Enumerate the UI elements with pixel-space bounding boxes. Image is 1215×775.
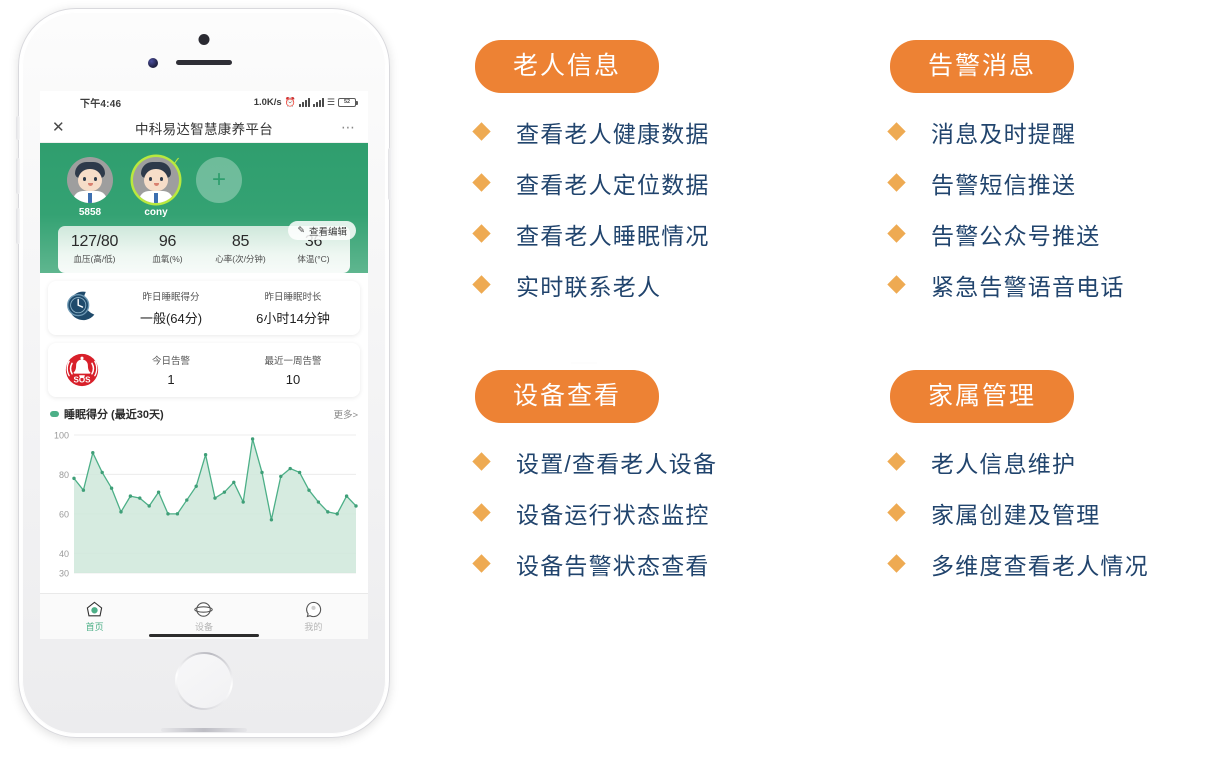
status-time: 下午4:46 <box>80 95 121 110</box>
list-item: 紧急告警语音电话 <box>890 268 1125 302</box>
section-title-pill: 家属管理 <box>890 370 1074 423</box>
svg-text:40: 40 <box>59 549 69 559</box>
signal-bars-icon <box>299 98 310 107</box>
diamond-bullet-icon <box>887 276 905 294</box>
sleep-score-col: 昨日睡眠得分 一般(64分) <box>110 289 232 327</box>
sos-bell-icon: SOS <box>54 351 110 389</box>
vital-value: 127/80 <box>58 233 131 251</box>
avatar-list: 5858 ✓ cony + <box>50 153 358 218</box>
list-item: 老人信息维护 <box>890 445 1149 479</box>
vital-blood-pressure: 127/80 血压(高/低) <box>58 233 131 265</box>
add-elder-button[interactable]: + <box>196 157 248 203</box>
tab-device-label: 设备 <box>195 620 213 633</box>
home-icon <box>85 600 104 619</box>
diamond-bullet-icon <box>887 555 905 573</box>
list-item-label: 老人信息维护 <box>931 445 1076 479</box>
avatar-item-cony[interactable]: ✓ cony <box>130 157 182 218</box>
list-item: 设置/查看老人设备 <box>475 445 717 479</box>
list-item: 设备告警状态查看 <box>475 547 717 581</box>
diamond-bullet-icon <box>887 174 905 192</box>
sleep-score-value: 一般(64分) <box>110 308 232 327</box>
volume-down-button[interactable] <box>16 208 20 244</box>
diamond-bullet-icon <box>472 453 490 471</box>
chart-header: 睡眠得分 (最近30天) 更多> <box>48 406 360 427</box>
chart-plot-area: 10080604030 <box>48 427 360 577</box>
network-speed: 1.0K/s <box>254 97 282 108</box>
avatar <box>67 157 113 203</box>
bottom-tab-bar: 首页 设备 我的 <box>40 593 368 639</box>
svg-text:SOS: SOS <box>73 375 91 384</box>
vital-heart-rate: 85 心率(次/分钟) <box>204 233 277 265</box>
mute-switch[interactable] <box>16 116 20 140</box>
proximity-sensor-icon <box>199 34 210 45</box>
sleep-chart-svg: 10080604030 <box>48 427 360 577</box>
list-item-label: 多维度查看老人情况 <box>931 547 1149 581</box>
list-item-label: 设备告警状态查看 <box>516 547 710 581</box>
list-item: 设备运行状态监控 <box>475 496 717 530</box>
svg-text:100: 100 <box>54 431 69 441</box>
hero-section: 5858 ✓ cony + ✎ 查看编辑 <box>40 143 368 273</box>
sleep-duration-value: 6小时14分钟 <box>232 308 354 327</box>
alarm-columns: 今日告警 1 最近一周告警 10 <box>110 353 354 387</box>
list-item: 告警公众号推送 <box>890 217 1125 251</box>
sleep-score-chart-card: 睡眠得分 (最近30天) 更多> 10080604030 <box>48 406 360 577</box>
alarm-clock-icon: ⏰ <box>285 97 296 108</box>
app-title: 中科易达智慧康养平台 <box>74 118 334 138</box>
device-icon <box>194 600 213 619</box>
sleep-duration-col: 昨日睡眠时长 6小时14分钟 <box>232 289 354 327</box>
chart-more-link[interactable]: 更多> <box>333 407 358 421</box>
list-item-label: 查看老人健康数据 <box>516 115 710 149</box>
list-item: 家属创建及管理 <box>890 496 1149 530</box>
section-bullet-list: 消息及时提醒 告警短信推送 告警公众号推送 紧急告警语音电话 <box>890 115 1125 302</box>
section-alarm-message: 告警消息 消息及时提醒 告警短信推送 告警公众号推送 紧急告警语音电话 <box>890 40 1125 319</box>
decorative-line <box>571 362 597 364</box>
plus-icon: + <box>196 157 242 203</box>
list-item-label: 查看老人睡眠情况 <box>516 217 710 251</box>
alarm-summary-card[interactable]: SOS 今日告警 1 最近一周告警 10 <box>48 343 360 397</box>
front-camera-icon <box>148 58 158 68</box>
sleep-summary-card[interactable]: 昨日睡眠得分 一般(64分) 昨日睡眠时长 6小时14分钟 <box>48 281 360 335</box>
list-item-label: 紧急告警语音电话 <box>931 268 1125 302</box>
diamond-bullet-icon <box>472 555 490 573</box>
moon-clock-icon <box>54 289 110 327</box>
vital-label: 血压(高/低) <box>58 253 131 265</box>
moon-clock-svg <box>63 289 101 327</box>
diamond-bullet-icon <box>887 225 905 243</box>
phone-screen: 下午4:46 1.0K/s ⏰ ☰ 52 ✕ 中科易达智慧康养平台 ⋯ <box>40 91 368 639</box>
feature-sections: 老人信息 查看老人健康数据 查看老人定位数据 查看老人睡眠情况 实时联系老人 告… <box>440 0 1215 775</box>
volume-up-button[interactable] <box>16 158 20 194</box>
section-title-pill: 设备查看 <box>475 370 659 423</box>
section-title-pill: 老人信息 <box>475 40 659 93</box>
diamond-bullet-icon <box>472 174 490 192</box>
pencil-icon: ✎ <box>297 225 305 236</box>
avatar-name: cony <box>130 207 182 218</box>
week-alarm-label: 最近一周告警 <box>232 353 354 367</box>
status-right-group: 1.0K/s ⏰ ☰ 52 <box>254 97 356 108</box>
more-dots-icon[interactable]: ⋯ <box>334 119 356 136</box>
sleep-score-label: 昨日睡眠得分 <box>110 289 232 303</box>
avatar-item-5858[interactable]: 5858 <box>64 157 116 218</box>
section-bullet-list: 老人信息维护 家属创建及管理 多维度查看老人情况 <box>890 445 1149 581</box>
diamond-bullet-icon <box>472 123 490 141</box>
section-device-view: 设备查看 设置/查看老人设备 设备运行状态监控 设备告警状态查看 <box>475 370 717 598</box>
power-button[interactable] <box>388 148 392 200</box>
home-button[interactable] <box>175 652 233 710</box>
avatar-name: 5858 <box>64 207 116 218</box>
home-indicator <box>149 634 259 637</box>
chart-title: 睡眠得分 (最近30天) <box>64 406 164 422</box>
list-item-label: 设置/查看老人设备 <box>516 445 717 479</box>
vital-label: 心率(次/分钟) <box>204 253 277 265</box>
app-title-bar: ✕ 中科易达智慧康养平台 ⋯ <box>40 113 368 143</box>
diamond-bullet-icon <box>887 123 905 141</box>
list-item: 多维度查看老人情况 <box>890 547 1149 581</box>
vital-value: 85 <box>204 233 277 251</box>
list-item: 查看老人定位数据 <box>475 166 710 200</box>
tab-profile[interactable]: 我的 <box>259 594 368 639</box>
today-alarm-col: 今日告警 1 <box>110 353 232 387</box>
diamond-bullet-icon <box>887 504 905 522</box>
vital-value: 96 <box>131 233 204 251</box>
vital-label: 血氧(%) <box>131 253 204 265</box>
profile-icon <box>304 600 323 619</box>
list-item-label: 告警公众号推送 <box>931 217 1100 251</box>
wifi-icon: ☰ <box>327 97 335 108</box>
legend-dot-icon <box>50 411 59 417</box>
list-item-label: 实时联系老人 <box>516 268 661 302</box>
svg-text:80: 80 <box>59 470 69 480</box>
status-bar: 下午4:46 1.0K/s ⏰ ☰ 52 <box>40 91 368 113</box>
diamond-bullet-icon <box>472 504 490 522</box>
list-item: 消息及时提醒 <box>890 115 1125 149</box>
sos-bell-svg: SOS <box>63 351 101 389</box>
signal-bars-icon-2 <box>313 98 324 107</box>
list-item: 实时联系老人 <box>475 268 710 302</box>
week-alarm-value: 10 <box>232 372 354 387</box>
earpiece-speaker <box>176 60 232 65</box>
phone-bottom-antenna <box>161 728 247 732</box>
vital-label: 体温(°C) <box>277 253 350 265</box>
view-edit-button[interactable]: ✎ 查看编辑 <box>288 221 356 240</box>
close-icon[interactable]: ✕ <box>52 120 74 135</box>
section-elder-info: 老人信息 查看老人健康数据 查看老人定位数据 查看老人睡眠情况 实时联系老人 <box>475 40 710 319</box>
svg-text:60: 60 <box>59 509 69 519</box>
sleep-duration-label: 昨日睡眠时长 <box>232 289 354 303</box>
battery-icon: 52 <box>338 98 356 107</box>
list-item-label: 家属创建及管理 <box>931 496 1100 530</box>
diamond-bullet-icon <box>472 276 490 294</box>
section-bullet-list: 设置/查看老人设备 设备运行状态监控 设备告警状态查看 <box>475 445 717 581</box>
view-edit-label: 查看编辑 <box>309 224 347 238</box>
list-item-label: 告警短信推送 <box>931 166 1076 200</box>
diamond-bullet-icon <box>887 453 905 471</box>
list-item-label: 消息及时提醒 <box>931 115 1076 149</box>
svg-text:30: 30 <box>59 569 69 578</box>
tab-home[interactable]: 首页 <box>40 594 149 639</box>
tab-profile-label: 我的 <box>304 620 322 633</box>
list-item: 查看老人睡眠情况 <box>475 217 710 251</box>
list-item: 查看老人健康数据 <box>475 115 710 149</box>
today-alarm-label: 今日告警 <box>110 353 232 367</box>
list-item-label: 设备运行状态监控 <box>516 496 710 530</box>
list-item: 告警短信推送 <box>890 166 1125 200</box>
list-item-label: 查看老人定位数据 <box>516 166 710 200</box>
diamond-bullet-icon <box>472 225 490 243</box>
vital-blood-oxygen: 96 血氧(%) <box>131 233 204 265</box>
tab-device[interactable]: 设备 <box>149 594 258 639</box>
section-family-management: 家属管理 老人信息维护 家属创建及管理 多维度查看老人情况 <box>890 370 1149 598</box>
week-alarm-col: 最近一周告警 10 <box>232 353 354 387</box>
sleep-columns: 昨日睡眠得分 一般(64分) 昨日睡眠时长 6小时14分钟 <box>110 289 354 327</box>
tab-home-label: 首页 <box>86 620 104 633</box>
check-icon: ✓ <box>169 155 183 169</box>
section-bullet-list: 查看老人健康数据 查看老人定位数据 查看老人睡眠情况 实时联系老人 <box>475 115 710 302</box>
phone-mockup: 下午4:46 1.0K/s ⏰ ☰ 52 ✕ 中科易达智慧康养平台 ⋯ <box>18 8 390 738</box>
today-alarm-value: 1 <box>110 372 232 387</box>
section-title-pill: 告警消息 <box>890 40 1074 93</box>
